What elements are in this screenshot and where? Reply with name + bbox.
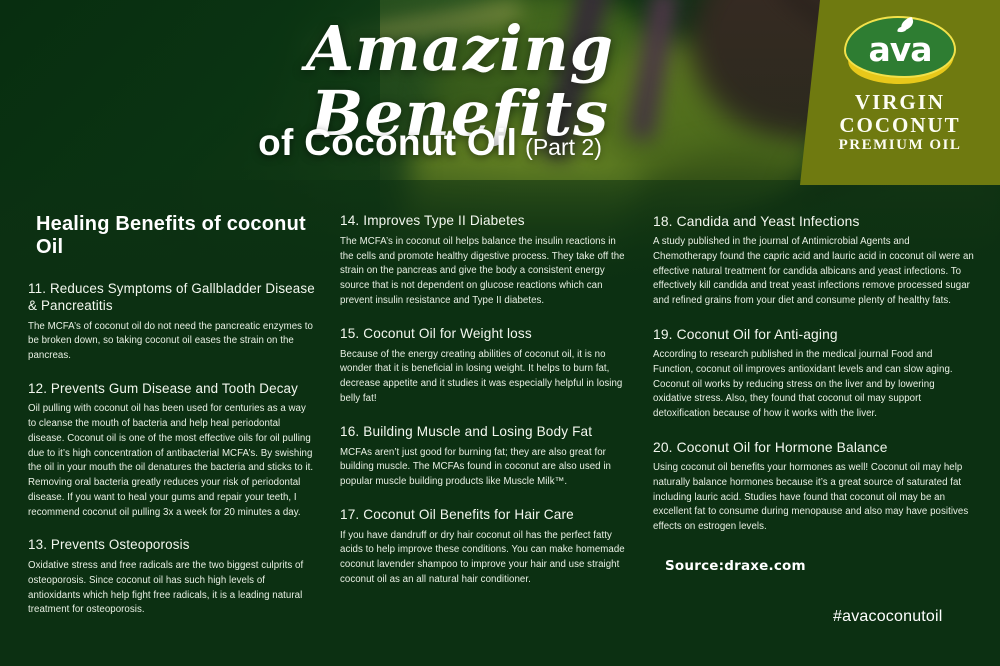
benefit-body: Oil pulling with coconut oil has been us… bbox=[28, 402, 316, 520]
benefit-heading: 20. Coconut Oil for Hormone Balance bbox=[653, 439, 975, 456]
benefit-item: 14. Improves Type II Diabetes The MCFA’s… bbox=[340, 213, 632, 309]
benefit-item: 16. Building Muscle and Losing Body Fat … bbox=[340, 424, 632, 490]
hashtag-label: #avacoconutoil bbox=[833, 608, 943, 626]
content-column-3: 18. Candida and Yeast Infections A study… bbox=[653, 213, 975, 552]
source-credit: Source:draxe.com bbox=[665, 558, 806, 574]
benefit-item: 13. Prevents Osteoporosis Oxidative stre… bbox=[28, 537, 316, 618]
ava-logo-badge: ava bbox=[844, 16, 956, 82]
infographic-poster: ava VIRGIN COCONUT PREMIUM OIL Amazing B… bbox=[0, 0, 1000, 666]
benefit-item: 11. Reduces Symptoms of Gallbladder Dise… bbox=[28, 281, 316, 364]
benefit-body: Oxidative stress and free radicals are t… bbox=[28, 559, 316, 618]
benefit-heading: 12. Prevents Gum Disease and Tooth Decay bbox=[28, 381, 316, 398]
benefit-item: 18. Candida and Yeast Infections A study… bbox=[653, 213, 975, 309]
section-title-healing-benefits: Healing Benefits of coconut Oil bbox=[36, 213, 316, 259]
benefit-heading: 16. Building Muscle and Losing Body Fat bbox=[340, 424, 632, 441]
benefit-heading: 14. Improves Type II Diabetes bbox=[340, 213, 632, 230]
poster-title-subline: of Coconut Oil(Part 2) bbox=[150, 122, 710, 164]
benefit-item: 20. Coconut Oil for Hormone Balance Usin… bbox=[653, 439, 975, 535]
benefit-heading: 17. Coconut Oil Benefits for Hair Care bbox=[340, 507, 632, 524]
logo-line-virgin: VIRGIN bbox=[800, 91, 1000, 114]
brand-logo-panel: ava VIRGIN COCONUT PREMIUM OIL bbox=[800, 0, 1000, 185]
content-column-1: Healing Benefits of coconut Oil 11. Redu… bbox=[28, 213, 316, 635]
benefit-body: A study published in the journal of Anti… bbox=[653, 235, 975, 309]
poster-title-main: of Coconut Oil bbox=[258, 122, 517, 163]
benefit-body: Because of the energy creating abilities… bbox=[340, 348, 632, 407]
benefit-heading: 13. Prevents Osteoporosis bbox=[28, 537, 316, 554]
benefit-heading: 15. Coconut Oil for Weight loss bbox=[340, 326, 632, 343]
benefit-body: The MCFA’s in coconut oil helps balance … bbox=[340, 235, 632, 309]
logo-line-premium-oil: PREMIUM OIL bbox=[800, 137, 1000, 153]
content-column-2: 14. Improves Type II Diabetes The MCFA’s… bbox=[340, 213, 632, 605]
benefit-body: Using coconut oil benefits your hormones… bbox=[653, 461, 975, 535]
benefit-heading: 11. Reduces Symptoms of Gallbladder Dise… bbox=[28, 281, 316, 315]
benefit-body: If you have dandruff or dry hair coconut… bbox=[340, 529, 632, 588]
benefit-heading: 18. Candida and Yeast Infections bbox=[653, 213, 975, 230]
benefit-body: The MCFA’s of coconut oil do not need th… bbox=[28, 320, 316, 364]
logo-line-coconut: COCONUT bbox=[800, 114, 1000, 137]
poster-title-part: (Part 2) bbox=[525, 134, 602, 160]
benefit-item: 17. Coconut Oil Benefits for Hair Care I… bbox=[340, 507, 632, 588]
benefit-body: MCFAs aren’t just good for burning fat; … bbox=[340, 446, 632, 490]
benefit-item: 19. Coconut Oil for Anti-aging According… bbox=[653, 326, 975, 422]
benefit-item: 12. Prevents Gum Disease and Tooth Decay… bbox=[28, 381, 316, 521]
benefit-body: According to research published in the m… bbox=[653, 348, 975, 422]
benefit-heading: 19. Coconut Oil for Anti-aging bbox=[653, 326, 975, 343]
brand-wordmark: ava bbox=[868, 33, 931, 66]
benefit-item: 15. Coconut Oil for Weight loss Because … bbox=[340, 326, 632, 407]
